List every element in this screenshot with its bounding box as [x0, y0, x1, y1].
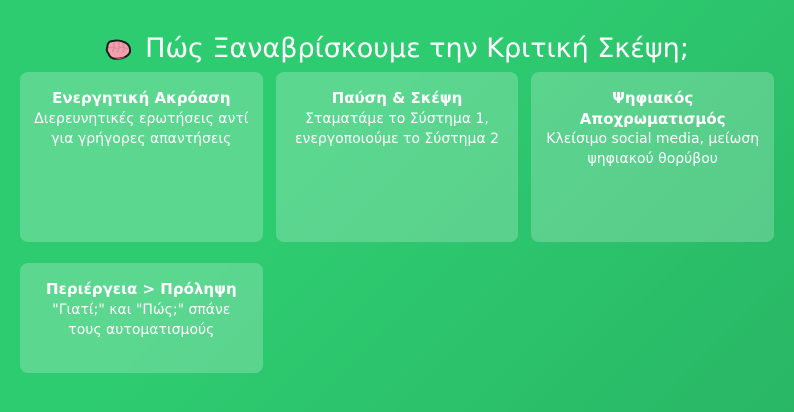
card-digital-detox[interactable]: Ψηφιακός Αποχρωματισμός Κλείσιμο social …: [531, 72, 774, 242]
card-title: Περιέργεια > Πρόληψη: [34, 279, 249, 300]
card-body: "Γιατί;" και "Πώς;" σπάνε τους αυτοματισ…: [34, 301, 249, 341]
card-title: Παύση & Σκέψη: [290, 88, 505, 109]
card-active-listening[interactable]: Ενεργητική Ακρόαση Διερευνητικές ερωτήσε…: [20, 72, 263, 242]
card-pause-and-think[interactable]: Παύση & Σκέψη Σταματάμε το Σύστημα 1, εν…: [276, 72, 519, 242]
card-row-1: Ενεργητική Ακρόαση Διερευνητικές ερωτήσε…: [20, 72, 774, 242]
card-slot-empty-1: [276, 263, 519, 373]
card-title: Ενεργητική Ακρόαση: [34, 88, 249, 109]
card-curiosity-over-prejudice[interactable]: Περιέργεια > Πρόληψη "Γιατί;" και "Πώς;"…: [20, 263, 263, 373]
card-body: Διερευνητικές ερωτήσεις αντί για γρήγορε…: [34, 110, 249, 150]
page-title-text: Πώς Ξαναβρίσκουμε την Κριτική Σκέψη;: [145, 34, 689, 64]
brain-icon: [105, 35, 135, 65]
card-slot-empty-2: [531, 263, 774, 373]
page-title: Πώς Ξαναβρίσκουμε την Κριτική Σκέψη;: [20, 0, 774, 72]
card-body: Σταματάμε το Σύστημα 1, ενεργοποιούμε το…: [290, 110, 505, 150]
cards-area: Ενεργητική Ακρόαση Διερευνητικές ερωτήσε…: [20, 72, 774, 412]
card-row-2: Περιέργεια > Πρόληψη "Γιατί;" και "Πώς;"…: [20, 263, 774, 373]
card-body: Κλείσιμο social media, μείωση ψηφιακού θ…: [545, 130, 760, 170]
card-title: Ψηφιακός Αποχρωματισμός: [545, 88, 760, 129]
slide: Πώς Ξαναβρίσκουμε την Κριτική Σκέψη; Ενε…: [0, 0, 794, 412]
